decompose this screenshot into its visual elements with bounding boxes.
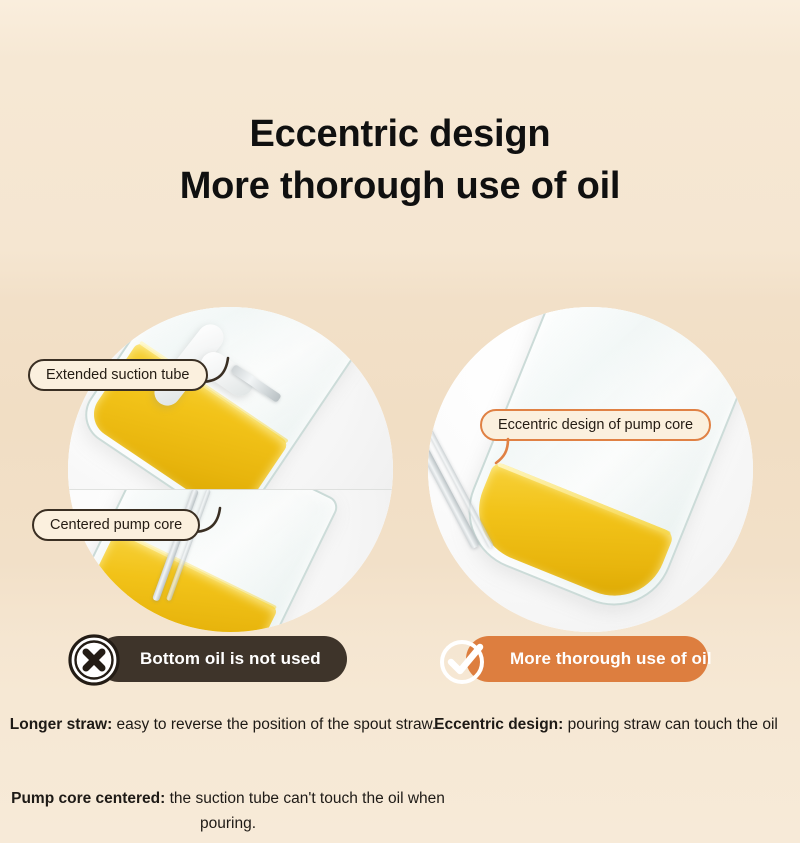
title-line-2: More thorough use of oil — [0, 160, 800, 212]
result-banner-negative: Bottom oil is not used — [96, 636, 347, 682]
caption-lead: Longer straw: — [10, 716, 112, 733]
caption-longer-straw: Longer straw: easy to reverse the positi… — [8, 712, 438, 737]
page-title: Eccentric design More thorough use of oi… — [0, 108, 800, 212]
callout-label: Extended suction tube — [46, 367, 190, 383]
caption-lead: Pump core centered: — [11, 790, 165, 807]
title-line-1: Eccentric design — [0, 108, 800, 160]
callout-label: Eccentric design of pump core — [498, 417, 693, 433]
callout-label: Centered pump core — [50, 517, 182, 533]
caption-pump-core-centered: Pump core centered: the suction tube can… — [8, 786, 448, 836]
caption-rest: pouring straw can touch the oil — [563, 716, 778, 733]
caption-lead: Eccentric design: — [434, 716, 563, 733]
banner-label: More thorough use of oil — [510, 649, 712, 669]
banner-label: Bottom oil is not used — [140, 649, 321, 669]
infographic-page: Eccentric design More thorough use of oi… — [0, 0, 800, 843]
result-banner-positive: More thorough use of oil — [466, 636, 708, 682]
callout-tail-eccentric-design — [492, 437, 522, 471]
callout-centered-pump-core: Centered pump core — [32, 509, 200, 541]
circle-x-icon — [66, 632, 122, 688]
caption-eccentric-design: Eccentric design: pouring straw can touc… — [420, 712, 792, 737]
caption-rest: easy to reverse the position of the spou… — [112, 716, 436, 733]
photo-left-top-half — [68, 307, 393, 490]
caption-rest: the suction tube can't touch the oil whe… — [165, 790, 445, 832]
circle-check-icon — [436, 632, 492, 688]
photo-right-comparison — [428, 307, 753, 632]
callout-extended-suction-tube: Extended suction tube — [28, 359, 208, 391]
